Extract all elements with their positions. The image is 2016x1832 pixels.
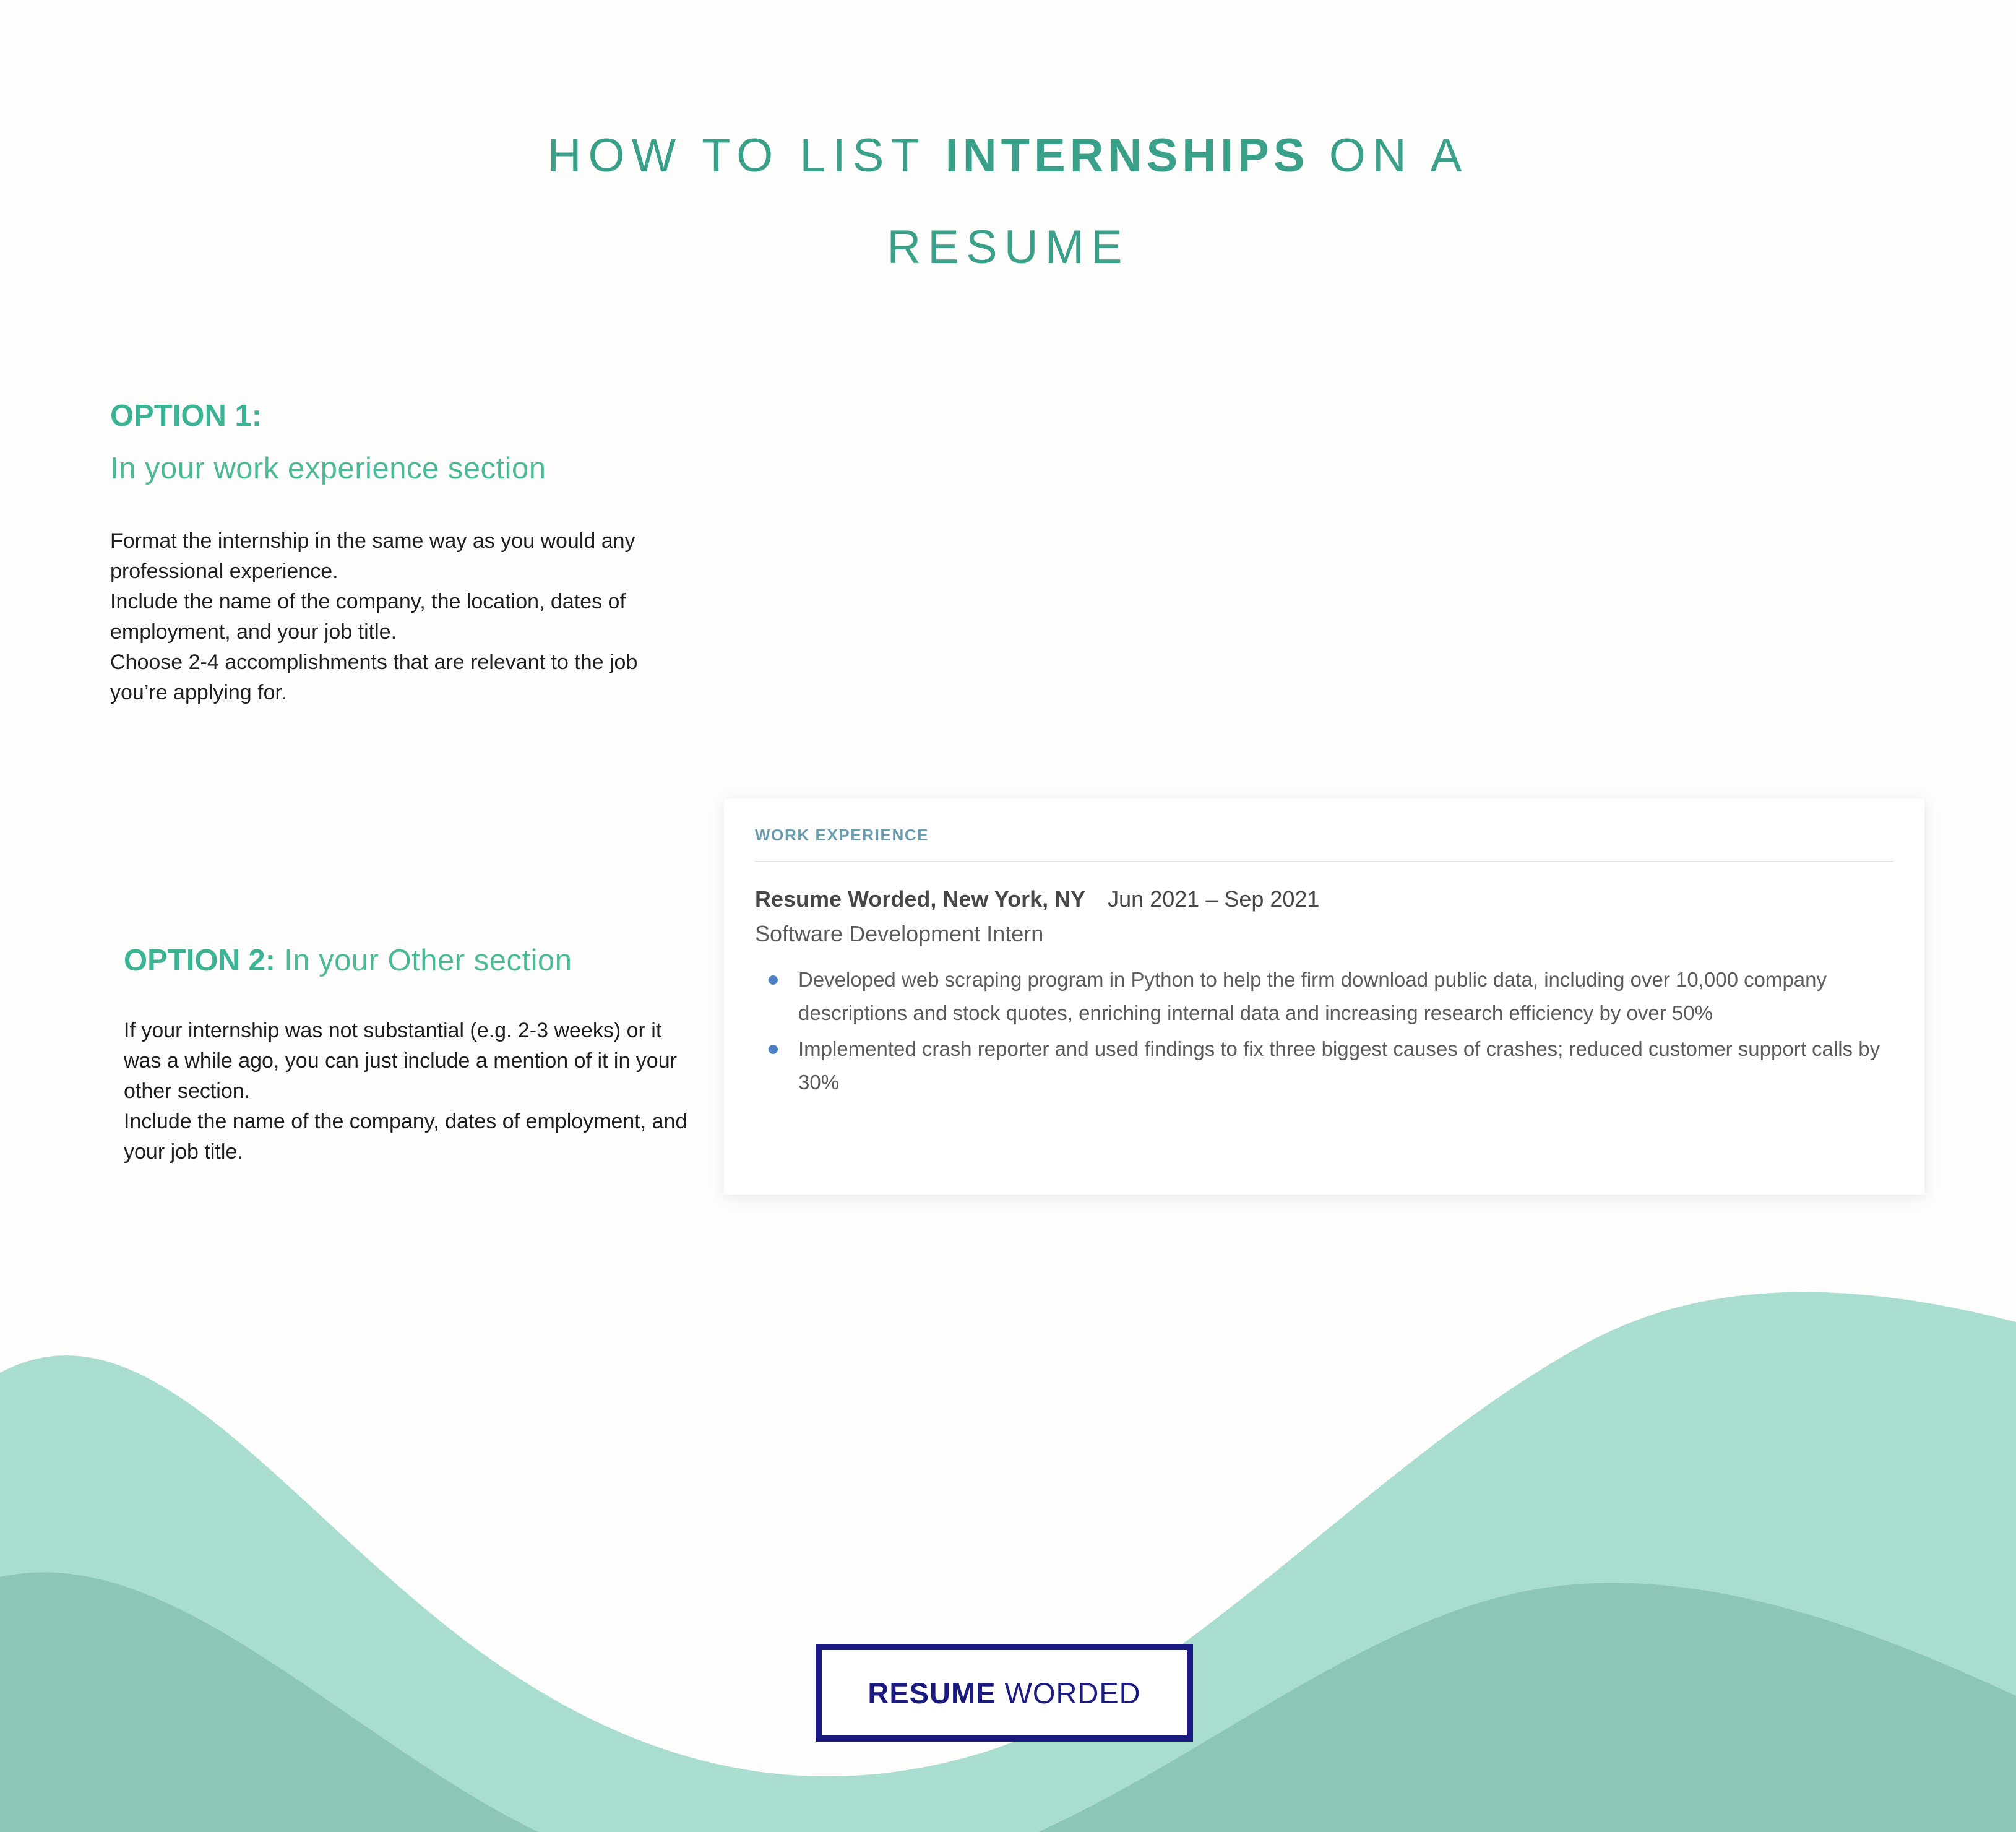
page-title-post: ON A: [1309, 129, 1469, 182]
job-company: Resume Worded, New York, NY: [755, 886, 1085, 912]
page-title-line-2: RESUME: [0, 202, 2016, 293]
option-1-body-line: Include the name of the company, the loc…: [110, 587, 679, 647]
option-1-body: Format the internship in the same way as…: [110, 526, 679, 708]
option-1-body-line: Choose 2-4 accomplishments that are rele…: [110, 647, 679, 708]
decorative-waves: [0, 1263, 2016, 1832]
option-2-section: OPTION 2: In your Other section If your …: [0, 935, 2016, 1195]
option-2-body-line: Include the name of the company, dates o…: [124, 1107, 693, 1167]
job-header: Resume Worded, New York, NYJun 2021 – Se…: [755, 885, 1893, 914]
option-2-text-column: OPTION 2: In your Other section If your …: [124, 935, 693, 1167]
option-1-section: OPTION 1:In your work experience section…: [0, 390, 2016, 823]
option-1-text-column: OPTION 1:In your work experience section…: [110, 390, 679, 708]
page-title: HOW TO LIST INTERNSHIPS ON A RESUME: [0, 110, 2016, 293]
option-1-heading: OPTION 1:In your work experience section: [110, 390, 679, 495]
job-dates: Jun 2021 – Sep 2021: [1108, 886, 1319, 912]
option-2-body-line: If your internship was not substantial (…: [124, 1016, 693, 1107]
option-1-body-line: Format the internship in the same way as…: [110, 526, 679, 587]
page-title-pre: HOW TO LIST: [548, 129, 946, 182]
resume-worded-logo[interactable]: RESUME WORDED: [816, 1644, 1193, 1742]
work-section-title: WORK EXPERIENCE: [755, 826, 1893, 845]
logo-text-regular: WORDED: [996, 1677, 1140, 1709]
infographic-page: HOW TO LIST INTERNSHIPS ON A RESUME OPTI…: [0, 0, 2016, 1832]
option-1-label: OPTION 1:: [110, 399, 262, 433]
logo-text-bold: RESUME: [868, 1677, 996, 1709]
option-1-subtitle: In your work experience section: [110, 452, 546, 485]
waves-svg: [0, 1263, 2016, 1832]
option-2-subtitle: In your Other section: [275, 944, 572, 977]
option-2-heading: OPTION 2: In your Other section: [124, 935, 693, 987]
logo-text: RESUME WORDED: [868, 1676, 1140, 1710]
page-title-emphasis: INTERNSHIPS: [946, 129, 1309, 182]
option-2-label: OPTION 2:: [124, 944, 275, 977]
page-title-line-1: HOW TO LIST INTERNSHIPS ON A: [0, 110, 2016, 202]
work-card-divider: [755, 861, 1893, 862]
option-2-body: If your internship was not substantial (…: [124, 1016, 693, 1167]
